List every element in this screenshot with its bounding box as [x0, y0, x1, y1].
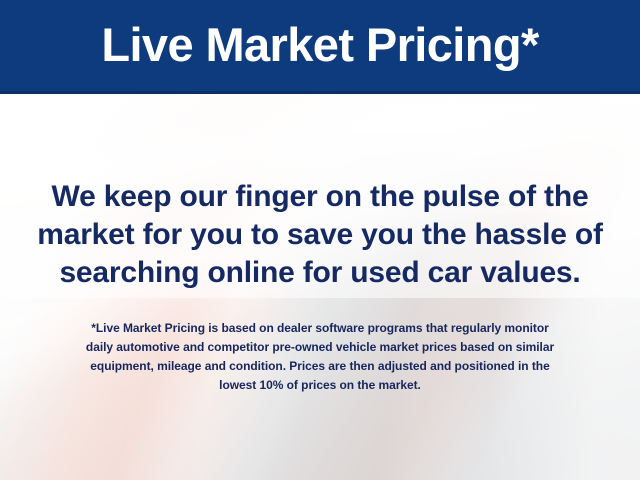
- disclaimer-block: *Live Market Pricing is based on dealer …: [24, 319, 616, 395]
- content-area: We keep our finger on the pulse of the m…: [0, 94, 640, 480]
- headline-line-2: market for you to save you the hassle of: [24, 216, 616, 254]
- headline-block: We keep our finger on the pulse of the m…: [24, 178, 616, 292]
- headline-line-3: searching online for used car values.: [24, 254, 616, 292]
- disclaimer-line-3: equipment, mileage and condition. Prices…: [24, 357, 616, 376]
- headline-line-1: We keep our finger on the pulse of the: [24, 178, 616, 216]
- disclaimer-line-4: lowest 10% of prices on the market.: [24, 376, 616, 395]
- disclaimer-line-1: *Live Market Pricing is based on dealer …: [24, 319, 616, 338]
- page-title: Live Market Pricing*: [101, 21, 538, 70]
- header-banner: Live Market Pricing*: [0, 0, 640, 94]
- live-market-pricing-banner: Live Market Pricing* We keep our finger …: [0, 0, 640, 480]
- disclaimer-line-2: daily automotive and competitor pre-owne…: [24, 338, 616, 357]
